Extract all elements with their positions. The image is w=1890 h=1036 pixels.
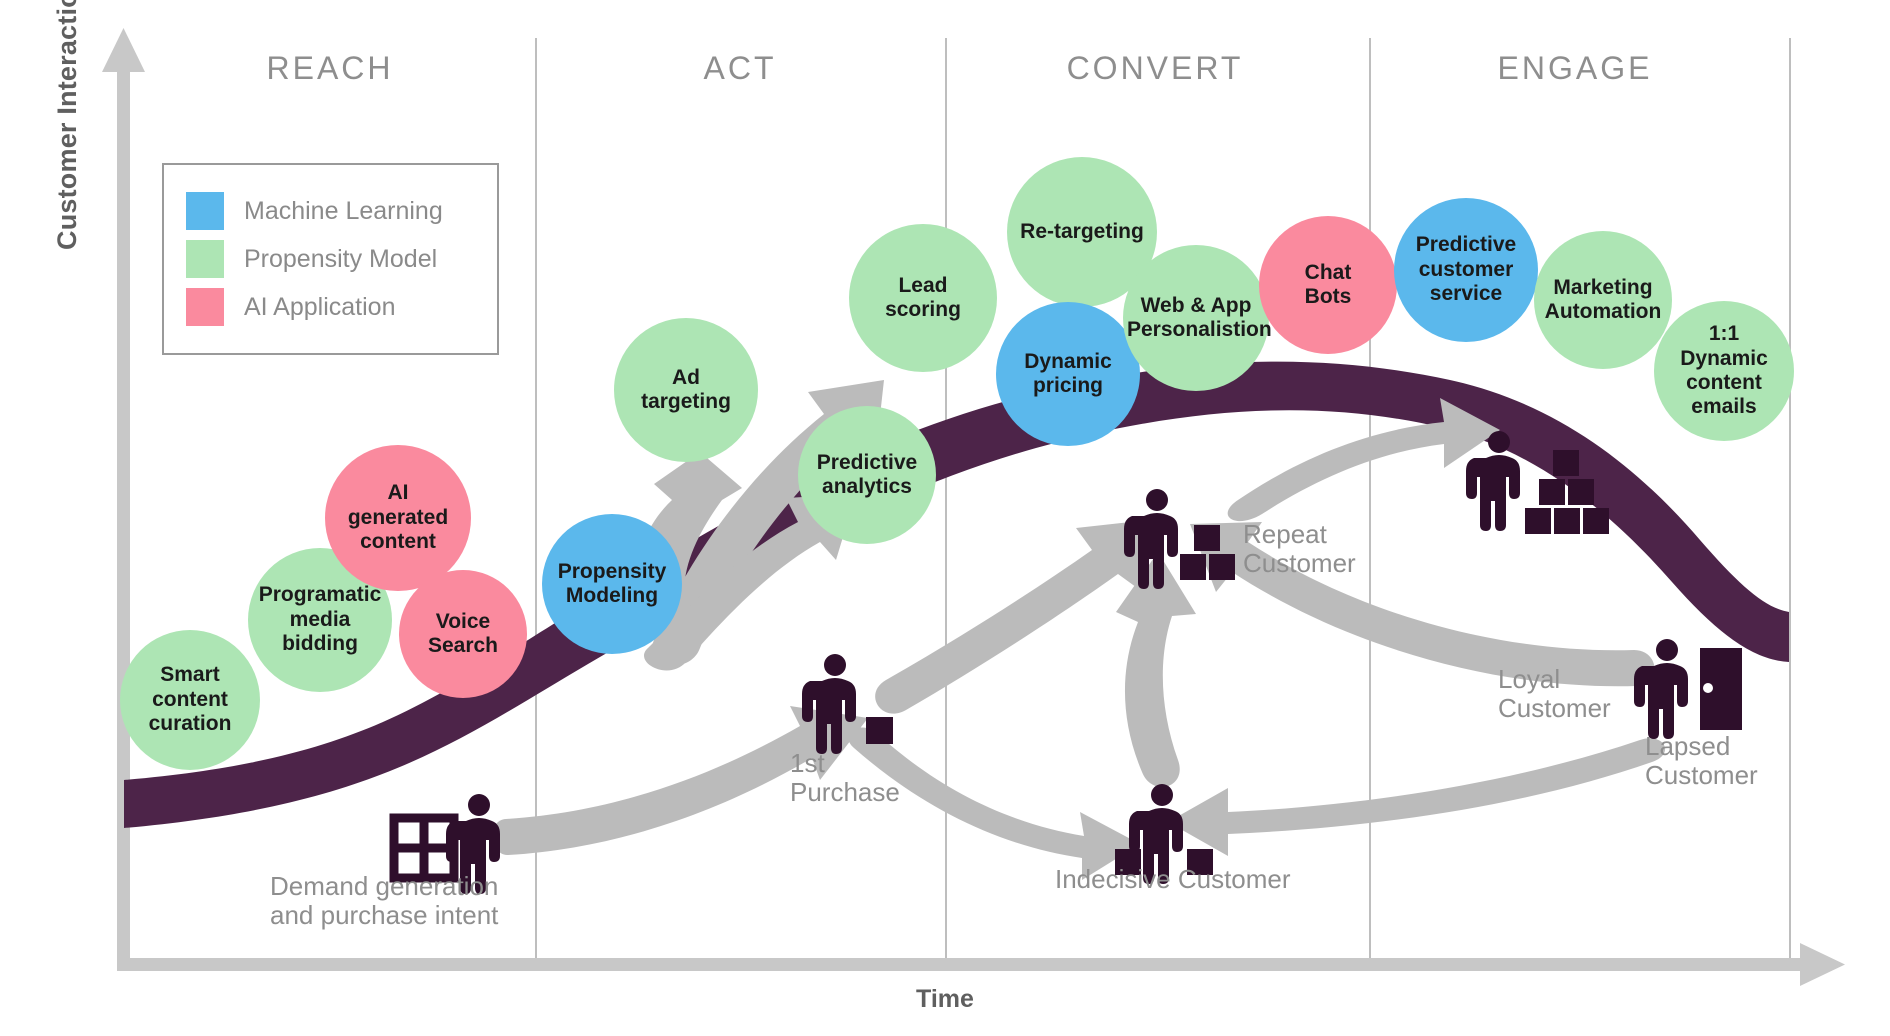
legend-swatch-icon — [186, 288, 224, 326]
bubble-smart-content-curation[interactable]: Smart content curation — [120, 630, 260, 770]
bubble-label: Propensity Modeling — [546, 560, 678, 609]
bubble-label: Voice Search — [403, 610, 523, 659]
stage-header-convert: CONVERT — [1005, 50, 1305, 87]
legend-swatch-icon — [186, 192, 224, 230]
marketing-lifecycle-diagram: Customer Interactions and Value Time REA… — [0, 0, 1890, 1036]
stage-header-act: ACT — [590, 50, 890, 87]
legend-item: Propensity Model — [186, 235, 497, 283]
y-axis — [102, 28, 145, 970]
person-with-three-boxes-icon — [1124, 489, 1235, 589]
legend-item: AI Application — [186, 283, 497, 331]
bubble-label: Smart content curation — [124, 663, 256, 736]
bubble-label: 1:1 Dynamic content emails — [1658, 322, 1790, 419]
bubble-predictive-customer-service[interactable]: Predictive customer service — [1394, 198, 1538, 342]
persona-label-first-purchase: 1st Purchase — [790, 749, 900, 807]
bubble-label: Predictive analytics — [802, 451, 932, 500]
arrow-first-purchase-to-repeat — [875, 520, 1148, 714]
legend-label: Machine Learning — [244, 197, 443, 226]
arrow-repeat-to-loyal — [1228, 398, 1500, 521]
persona-label-indecisive-customer: Indecisive Customer — [1055, 865, 1291, 894]
bubble-lead-scoring[interactable]: Lead scoring — [849, 224, 997, 372]
bubble-label: Marketing Automation — [1538, 276, 1668, 325]
bubble-dynamic-pricing[interactable]: Dynamic pricing — [996, 302, 1140, 446]
persona-label-repeat-customer: Repeat Customer — [1243, 520, 1356, 578]
stage-header-reach: REACH — [180, 50, 480, 87]
bubble-label: Ad targeting — [618, 366, 754, 415]
stage-header-engage: ENGAGE — [1425, 50, 1725, 87]
x-axis-label: Time — [0, 985, 1890, 1014]
bubble-marketing-automation[interactable]: Marketing Automation — [1534, 231, 1672, 369]
bubble-label: Web & App Personalistion — [1127, 294, 1265, 343]
bubble-propensity-modeling[interactable]: Propensity Modeling — [542, 514, 682, 654]
bubble-chat-bots[interactable]: Chat Bots — [1259, 216, 1397, 354]
bubble-label: Predictive customer service — [1398, 233, 1534, 306]
person-with-door-icon — [1634, 639, 1742, 739]
bubble-ad-targeting[interactable]: Ad targeting — [614, 318, 758, 462]
legend-label: Propensity Model — [244, 245, 437, 274]
legend-label: AI Application — [244, 293, 396, 322]
bubble-label: Chat Bots — [1263, 261, 1393, 310]
bubble-ai-generated-content[interactable]: AI generated content — [325, 445, 471, 591]
bubble-label: Dynamic pricing — [1000, 350, 1136, 399]
bubble-dynamic-content-emails[interactable]: 1:1 Dynamic content emails — [1654, 301, 1794, 441]
legend-item: Machine Learning — [186, 187, 497, 235]
persona-label-demand-generation: Demand generation and purchase intent — [270, 872, 498, 930]
bubble-label: Programatic media bidding — [252, 583, 388, 656]
arrow-lapsed-to-indecisive — [1168, 738, 1665, 856]
bubble-voice-search[interactable]: Voice Search — [399, 570, 527, 698]
legend-swatch-icon — [186, 240, 224, 278]
bubble-label: Re-targeting — [1011, 220, 1153, 244]
bubble-label: Lead scoring — [853, 274, 993, 323]
y-axis-label: Customer Interactions and Value — [52, 0, 83, 250]
legend: Machine LearningPropensity ModelAI Appli… — [162, 163, 499, 355]
bubble-predictive-analytics[interactable]: Predictive analytics — [798, 406, 936, 544]
persona-label-lapsed-customer: Lapsed Customer — [1645, 732, 1758, 790]
x-axis — [117, 943, 1845, 986]
bubble-web-app-personalistion[interactable]: Web & App Personalistion — [1123, 245, 1269, 391]
persona-label-loyal-customer: Loyal Customer — [1498, 665, 1611, 723]
bubble-label: AI generated content — [329, 481, 467, 554]
